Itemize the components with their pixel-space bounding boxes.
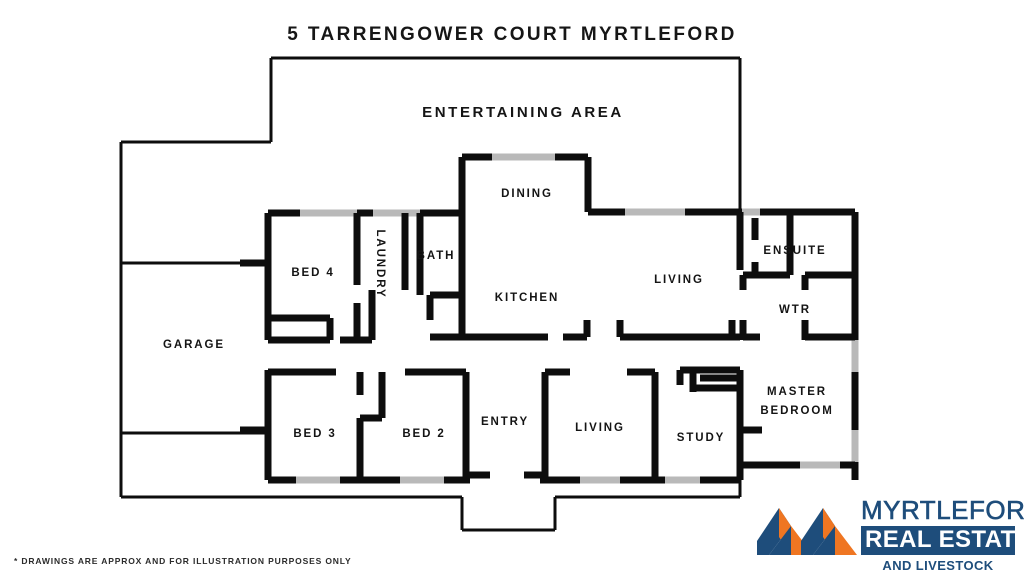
label-garage: GARAGE bbox=[163, 339, 225, 351]
logo-word-and-livestock: AND LIVESTOCK bbox=[861, 559, 1015, 572]
label-master-bedroom-line1: MASTER bbox=[767, 386, 827, 398]
logo-m-mark-icon bbox=[757, 495, 857, 555]
label-study: STUDY bbox=[677, 432, 725, 444]
logo-word-myrtleford: MYRTLEFORD bbox=[861, 497, 1015, 523]
label-laundry: LAUNDRY bbox=[374, 229, 386, 298]
bed-2-walls bbox=[405, 372, 490, 478]
label-entertaining-area: ENTERTAINING AREA bbox=[422, 104, 624, 121]
myrtleford-real-estate-logo: MYRTLEFORD REAL ESTATE AND LIVESTOCK bbox=[757, 487, 1015, 571]
label-bed-3: BED 3 bbox=[293, 428, 336, 440]
label-dining: DINING bbox=[501, 188, 553, 200]
bath-walls bbox=[420, 213, 462, 337]
logo-wordmark: MYRTLEFORD REAL ESTATE AND LIVESTOCK bbox=[861, 487, 1015, 572]
logo-bar: REAL ESTATE bbox=[861, 526, 1015, 555]
label-living-north: LIVING bbox=[654, 274, 704, 286]
label-living-south: LIVING bbox=[575, 422, 625, 434]
label-ensuite: ENSUITE bbox=[763, 245, 826, 257]
logo-word-real-estate: REAL ESTATE bbox=[865, 528, 1011, 552]
label-bed-2: BED 2 bbox=[402, 428, 445, 440]
ensuite-wtr-walls bbox=[743, 212, 855, 340]
kitchen-dining-walls bbox=[462, 213, 587, 340]
label-entry: ENTRY bbox=[481, 416, 529, 428]
label-master-bedroom-line2: BEDROOM bbox=[760, 405, 833, 417]
bed-3-walls bbox=[240, 372, 382, 480]
label-wtr: WTR bbox=[779, 304, 811, 316]
label-kitchen: KITCHEN bbox=[495, 292, 559, 304]
floor-plan-page: 5 TARRENGOWER COURT MYRTLEFORD bbox=[0, 0, 1024, 577]
label-bed-4: BED 4 bbox=[291, 267, 334, 279]
label-bath: BATH bbox=[417, 250, 456, 262]
disclaimer-text: * DRAWINGS ARE APPROX AND FOR ILLUSTRATI… bbox=[14, 556, 352, 566]
